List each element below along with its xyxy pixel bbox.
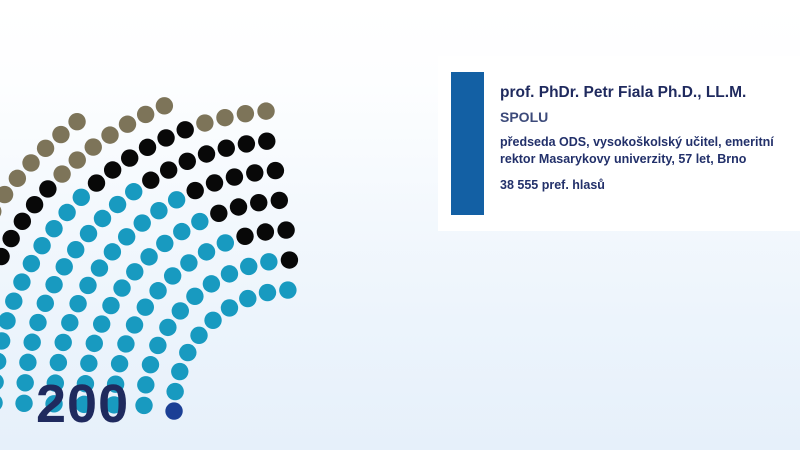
seat-dot[interactable] xyxy=(23,255,40,272)
seat-dot[interactable] xyxy=(149,337,166,354)
seat-dot[interactable] xyxy=(45,220,62,237)
seat-dot[interactable] xyxy=(29,314,46,331)
seat-dot[interactable] xyxy=(166,383,183,400)
seat-dot[interactable] xyxy=(2,230,19,247)
seat-dot[interactable] xyxy=(102,297,119,314)
seat-dot[interactable] xyxy=(179,344,196,361)
seat-dot[interactable] xyxy=(238,135,255,152)
seat-dot[interactable] xyxy=(121,149,138,166)
seat-dot[interactable] xyxy=(19,354,36,371)
seat-dot[interactable] xyxy=(217,234,234,251)
seat-dot[interactable] xyxy=(237,105,254,122)
candidate-description: předseda ODS, vysokoškolský učitel, emer… xyxy=(500,134,786,169)
seat-dot[interactable] xyxy=(134,214,151,231)
seat-dot[interactable] xyxy=(45,276,62,293)
seat-dot[interactable] xyxy=(56,258,73,275)
seat-dot[interactable] xyxy=(125,183,142,200)
seat-dot[interactable] xyxy=(230,198,247,215)
seat-dot[interactable] xyxy=(117,335,134,352)
seat-dot[interactable] xyxy=(165,402,182,419)
candidate-party: SPOLU xyxy=(500,109,786,125)
seat-dot[interactable] xyxy=(267,162,284,179)
seat-dot[interactable] xyxy=(33,237,50,254)
seat-dot[interactable] xyxy=(50,354,67,371)
seat-dot[interactable] xyxy=(180,254,197,271)
seat-dot[interactable] xyxy=(118,228,135,245)
seat-dot[interactable] xyxy=(150,202,167,219)
seat-dot[interactable] xyxy=(260,253,277,270)
seat-dot[interactable] xyxy=(206,174,223,191)
seat-dot[interactable] xyxy=(69,295,86,312)
total-seats-label: 200 xyxy=(36,377,129,431)
seat-dot[interactable] xyxy=(0,332,10,349)
seat-dot[interactable] xyxy=(250,194,267,211)
seat-dot[interactable] xyxy=(190,327,207,344)
seat-dot[interactable] xyxy=(257,223,274,240)
seat-dot[interactable] xyxy=(281,251,298,268)
seat-dot[interactable] xyxy=(279,281,296,298)
seat-dot[interactable] xyxy=(104,243,121,260)
seat-dot[interactable] xyxy=(226,168,243,185)
seat-dot[interactable] xyxy=(177,121,194,138)
seat-dot[interactable] xyxy=(0,353,6,370)
seat-dot[interactable] xyxy=(171,363,188,380)
seat-dot[interactable] xyxy=(271,192,288,209)
seat-dot[interactable] xyxy=(69,151,86,168)
seat-dot[interactable] xyxy=(80,225,97,242)
seat-dot[interactable] xyxy=(67,241,84,258)
seat-dot[interactable] xyxy=(23,334,40,351)
seat-dot[interactable] xyxy=(37,140,54,157)
seat-dot[interactable] xyxy=(79,277,96,294)
seat-dot[interactable] xyxy=(236,228,253,245)
seat-dot[interactable] xyxy=(221,299,238,316)
seat-dot[interactable] xyxy=(240,258,257,275)
seat-dot[interactable] xyxy=(204,312,221,329)
seat-dot[interactable] xyxy=(13,273,30,290)
seat-dot[interactable] xyxy=(80,355,97,372)
seat-dot[interactable] xyxy=(140,248,157,265)
candidate-tooltip[interactable]: prof. PhDr. Petr Fiala Ph.D., LL.M. SPOL… xyxy=(438,56,800,231)
seat-dot[interactable] xyxy=(0,394,3,411)
seat-dot[interactable] xyxy=(139,139,156,156)
seat-dot[interactable] xyxy=(186,288,203,305)
seat-dot[interactable] xyxy=(168,191,185,208)
seat-dot[interactable] xyxy=(164,267,181,284)
seat-dot[interactable] xyxy=(173,223,190,240)
seat-dot[interactable] xyxy=(22,154,39,171)
seat-dot[interactable] xyxy=(157,129,174,146)
seat-dot[interactable] xyxy=(257,102,274,119)
seat-dot[interactable] xyxy=(137,106,154,123)
seat-dot[interactable] xyxy=(0,312,16,329)
seat-dot[interactable] xyxy=(191,213,208,230)
seat-dot[interactable] xyxy=(5,293,22,310)
seat-dot[interactable] xyxy=(16,374,33,391)
seat-dot[interactable] xyxy=(53,165,70,182)
seat-dot[interactable] xyxy=(52,126,69,143)
seat-dot[interactable] xyxy=(159,319,176,336)
seat-dot[interactable] xyxy=(210,205,227,222)
seat-dot[interactable] xyxy=(187,182,204,199)
seat-dot[interactable] xyxy=(109,196,126,213)
seat-dot[interactable] xyxy=(91,259,108,276)
candidate-tooltip-body: prof. PhDr. Petr Fiala Ph.D., LL.M. SPOL… xyxy=(484,56,800,231)
seat-dot[interactable] xyxy=(221,265,238,282)
seat-dot[interactable] xyxy=(198,145,215,162)
seat-dot[interactable] xyxy=(73,189,90,206)
seat-dot[interactable] xyxy=(149,282,166,299)
seat-dot[interactable] xyxy=(55,334,72,351)
seat-dot[interactable] xyxy=(156,235,173,252)
seat-dot[interactable] xyxy=(277,221,294,238)
seat-dot[interactable] xyxy=(15,395,32,412)
seat-dot[interactable] xyxy=(68,113,85,130)
seat-dot[interactable] xyxy=(179,153,196,170)
seat-dot[interactable] xyxy=(196,114,213,131)
seat-dot[interactable] xyxy=(93,315,110,332)
seat-dot[interactable] xyxy=(94,210,111,227)
seat-dot[interactable] xyxy=(0,373,4,390)
candidate-preferential-votes: 38 555 pref. hlasů xyxy=(500,178,786,193)
seat-dot[interactable] xyxy=(137,376,154,393)
seat-dot[interactable] xyxy=(0,186,13,203)
seat-dot[interactable] xyxy=(156,97,173,114)
seat-dot[interactable] xyxy=(218,139,235,156)
seat-dot[interactable] xyxy=(113,279,130,296)
seat-dot[interactable] xyxy=(172,302,189,319)
seat-dot[interactable] xyxy=(26,196,43,213)
election-seat-chart-screen: 200 prof. PhDr. Petr Fiala Ph.D., LL.M. … xyxy=(0,0,800,450)
seat-dot[interactable] xyxy=(142,172,159,189)
seat-dot[interactable] xyxy=(86,335,103,352)
seat-dot[interactable] xyxy=(111,355,128,372)
seat-dot[interactable] xyxy=(85,138,102,155)
seat-dot[interactable] xyxy=(61,314,78,331)
seat-dot[interactable] xyxy=(58,204,75,221)
seat-dot[interactable] xyxy=(142,356,159,373)
seat-dot[interactable] xyxy=(259,284,276,301)
seat-dot[interactable] xyxy=(198,243,215,260)
seat-dot[interactable] xyxy=(9,170,26,187)
candidate-name: prof. PhDr. Petr Fiala Ph.D., LL.M. xyxy=(500,84,786,102)
seat-dot[interactable] xyxy=(101,126,118,143)
seat-dot[interactable] xyxy=(246,164,263,181)
seat-dot[interactable] xyxy=(216,109,233,126)
seat-dot[interactable] xyxy=(126,263,143,280)
seat-dot[interactable] xyxy=(104,161,121,178)
party-color-swatch xyxy=(451,72,484,215)
seat-dot[interactable] xyxy=(239,290,256,307)
seat-dot[interactable] xyxy=(135,397,152,414)
seat-dot[interactable] xyxy=(37,295,54,312)
seat-dot[interactable] xyxy=(160,161,177,178)
seat-dot[interactable] xyxy=(39,180,56,197)
seat-dot[interactable] xyxy=(137,298,154,315)
seat-dot[interactable] xyxy=(14,213,31,230)
seat-dot[interactable] xyxy=(119,116,136,133)
seat-dot[interactable] xyxy=(126,316,143,333)
seat-dot[interactable] xyxy=(203,275,220,292)
seat-dot[interactable] xyxy=(0,248,10,265)
seat-dot[interactable] xyxy=(258,132,275,149)
seat-dot[interactable] xyxy=(88,174,105,191)
seat-dot[interactable] xyxy=(0,203,1,220)
